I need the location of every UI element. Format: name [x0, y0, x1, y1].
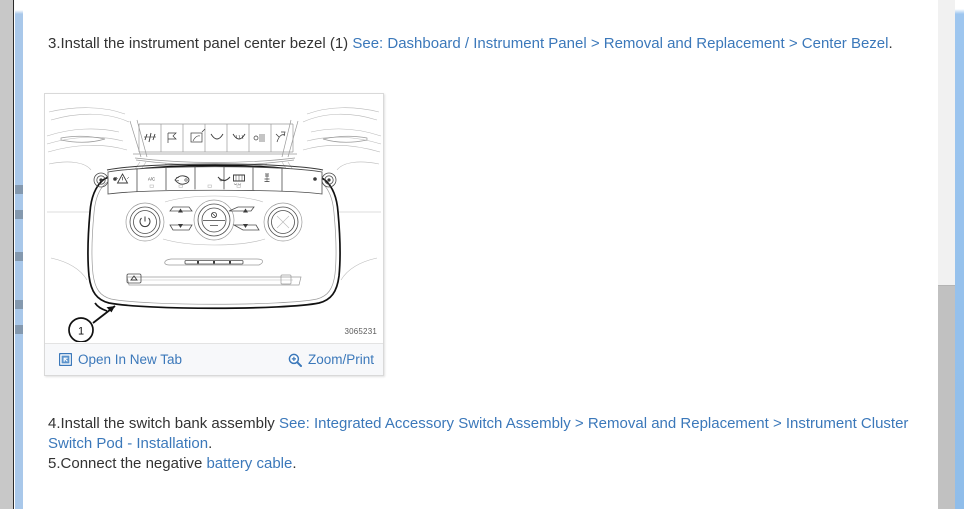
step-item-5: 5.Connect the negative battery cable. [48, 454, 297, 474]
step-5-number: 5. [48, 455, 61, 472]
zoom-print-label: Zoom/Print [308, 352, 374, 367]
magnifier-plus-icon [288, 353, 302, 367]
step-5-text: Connect the negative [61, 455, 207, 472]
left-accent-mark-4 [15, 300, 23, 309]
figure-panel: A/C [44, 93, 384, 376]
step-3-text-after: . [888, 35, 892, 52]
window-left-edge [0, 0, 14, 509]
figure-number: 3065231 [344, 327, 377, 336]
zoom-print-button[interactable]: Zoom/Print [288, 352, 374, 367]
window-right-accent [955, 0, 964, 509]
document-content-area: 3.Install the instrument panel center be… [23, 0, 930, 509]
left-accent-mark-1 [15, 185, 23, 194]
step-4-number: 4. [48, 415, 61, 432]
step-3-link[interactable]: See: Dashboard / Instrument Panel > Remo… [352, 35, 888, 52]
page-root: 3.Install the instrument panel center be… [0, 0, 967, 509]
open-in-new-tab-label: Open In New Tab [78, 352, 182, 367]
step-3-text: Install the instrument panel center beze… [61, 35, 353, 52]
step-item-3: 3.Install the instrument panel center be… [48, 34, 893, 54]
step-4-text: Install the switch bank assembly [61, 415, 279, 432]
step-5-text-after: . [292, 455, 296, 472]
step-4-text-after: . [208, 435, 212, 452]
open-in-new-tab-button[interactable]: Open In New Tab [59, 352, 182, 367]
svg-text:1: 1 [78, 326, 84, 338]
figure-toolbar: Open In New Tab Zoom/Print [45, 343, 383, 375]
step-item-4: 4.Install the switch bank assembly See: … [48, 414, 930, 454]
step-5-link[interactable]: battery cable [206, 455, 292, 472]
left-accent-mark-2 [15, 210, 23, 219]
step-3-number: 3. [48, 35, 61, 52]
vertical-scrollbar-thumb[interactable] [938, 285, 955, 509]
left-accent-mark-5 [15, 325, 23, 334]
figure-image[interactable]: A/C [45, 94, 383, 342]
svg-text:A/C: A/C [148, 177, 155, 182]
open-in-new-window-icon [59, 353, 72, 366]
left-accent-mark-3 [15, 252, 23, 261]
